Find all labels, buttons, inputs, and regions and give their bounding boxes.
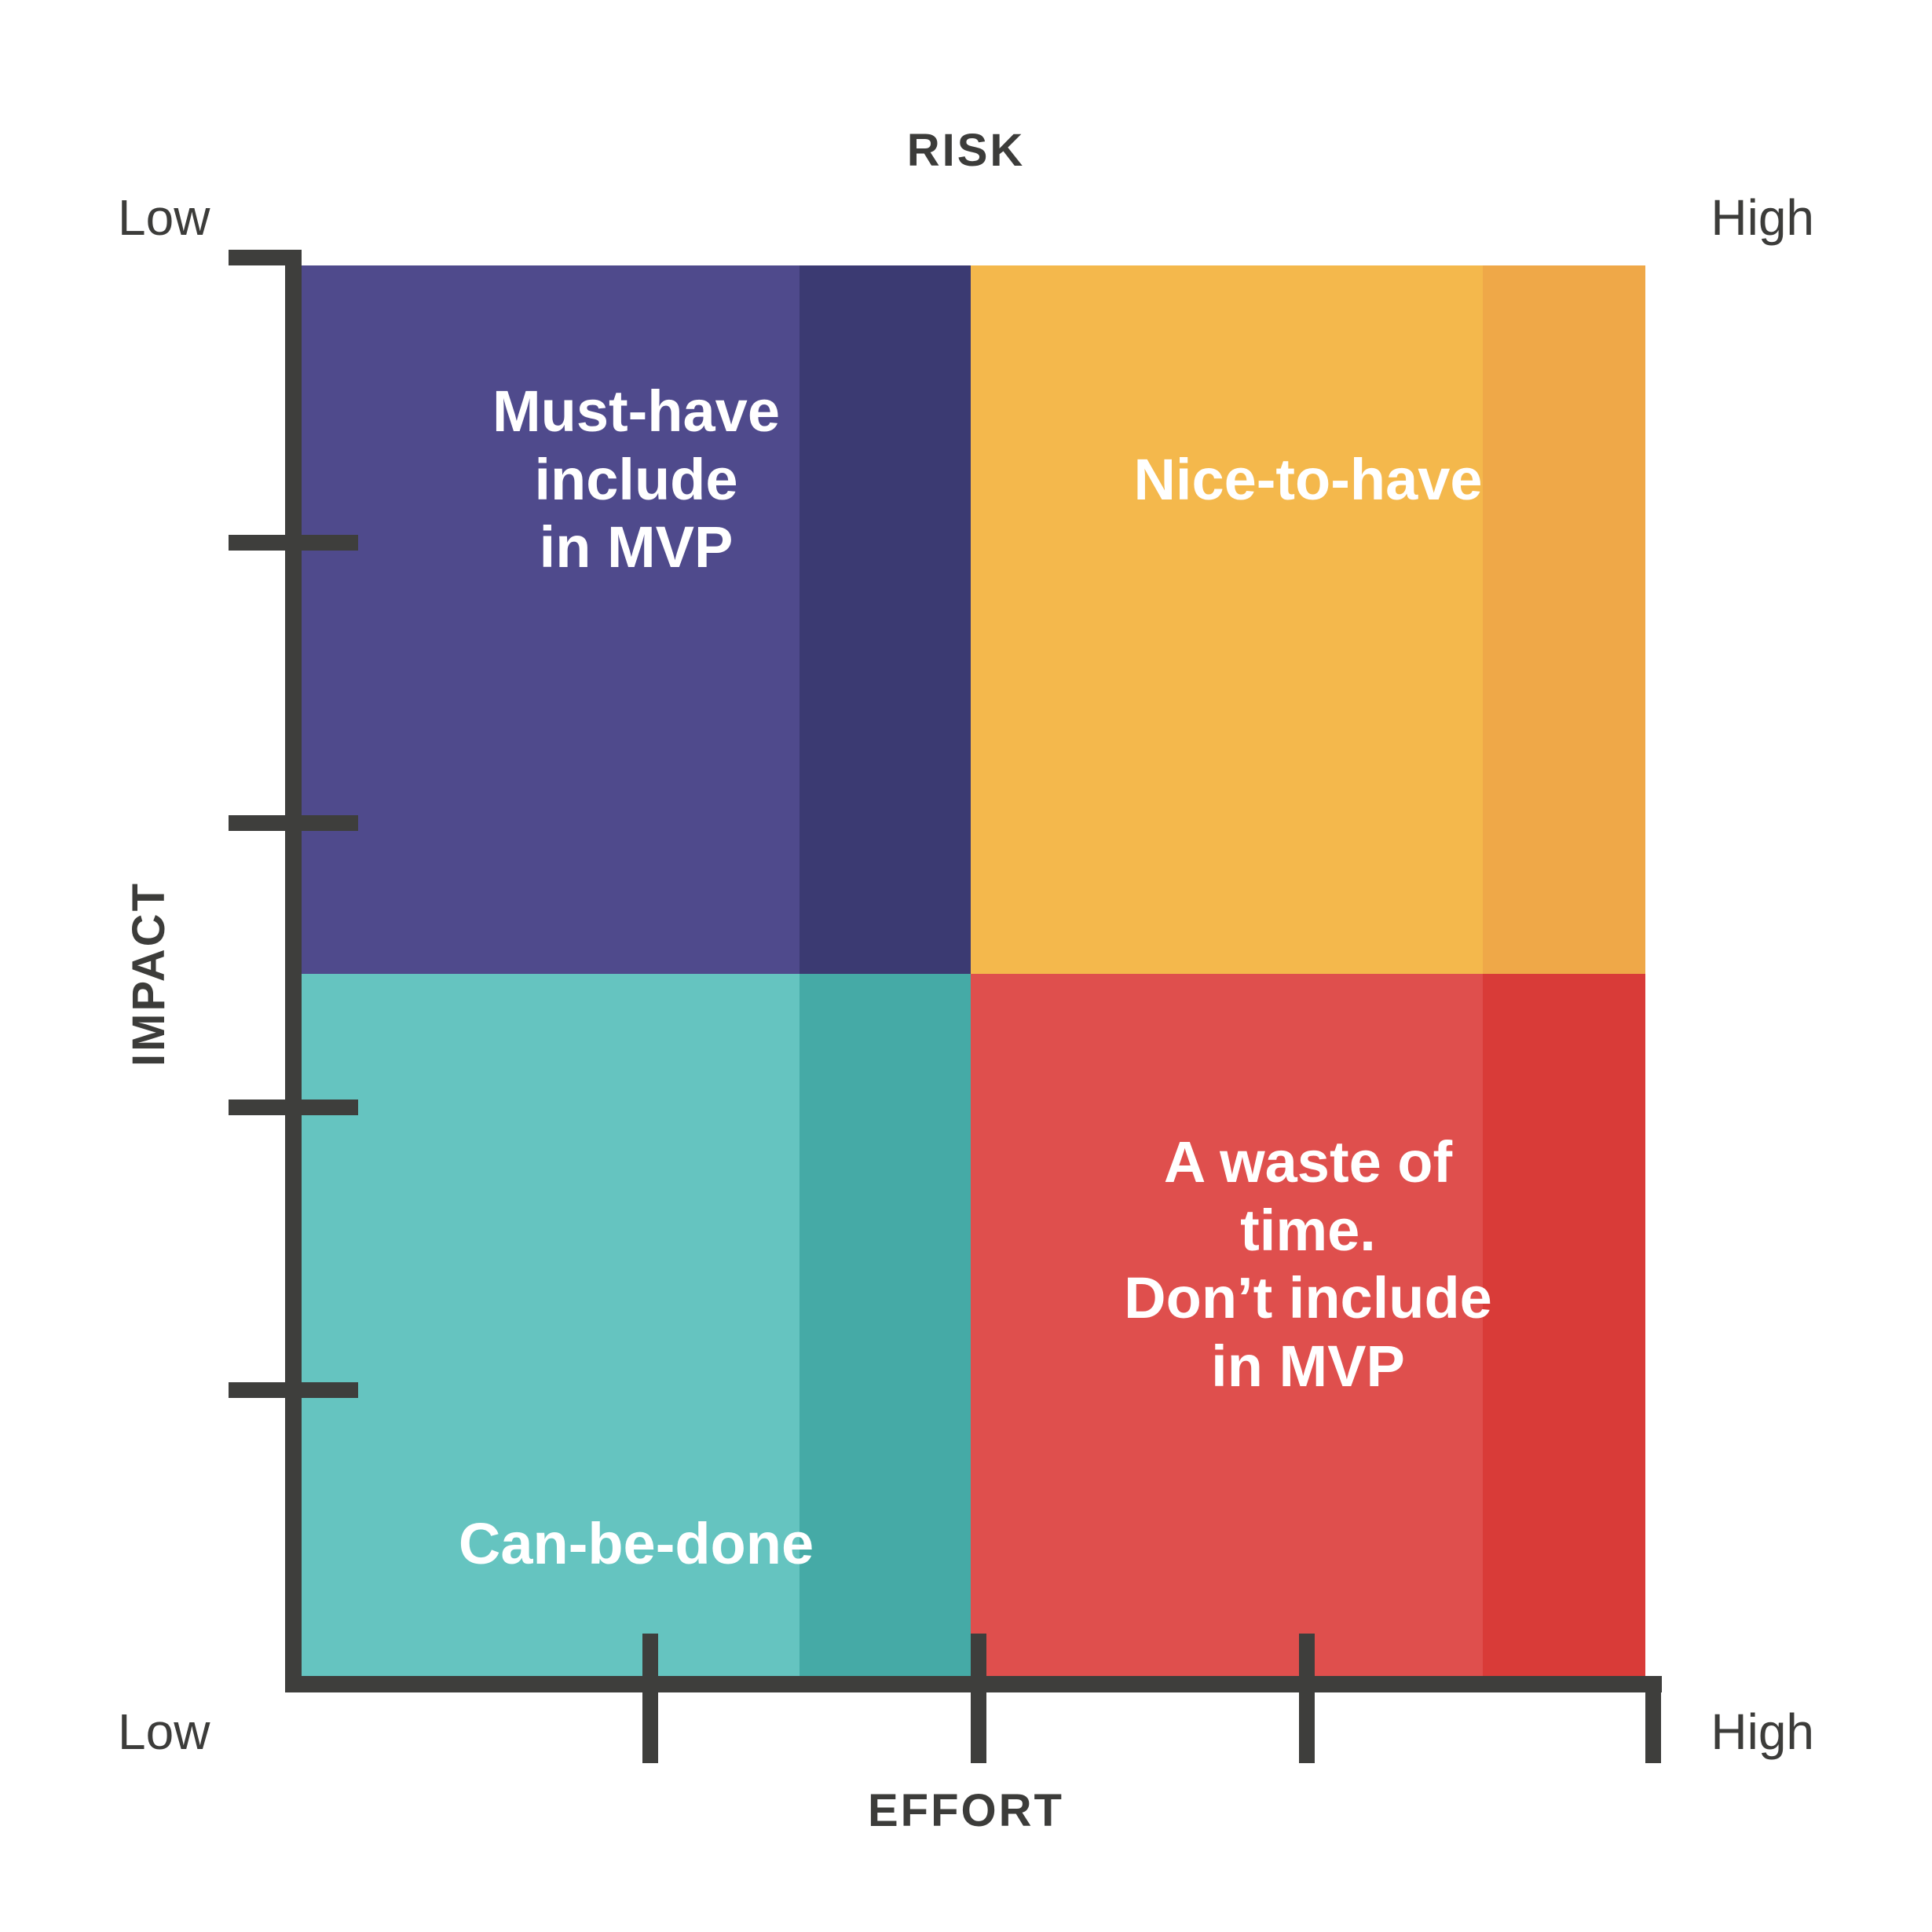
y-axis-line: [285, 250, 302, 1692]
risk-axis-title: RISK: [0, 124, 1932, 177]
x-axis-tick: [1645, 1676, 1661, 1763]
y-axis-tick: [229, 1382, 358, 1398]
plot-area: Must-have include in MVP Nice-to-have Ca…: [302, 265, 1645, 1676]
y-axis-tick: [229, 250, 302, 265]
quadrant-shade-band: [1483, 265, 1645, 974]
quadrant-can-be-done[interactable]: Can-be-done: [302, 974, 971, 1676]
risk-low-label: Low: [118, 188, 210, 247]
effort-high-label: High: [1711, 1703, 1814, 1761]
x-axis-tick: [642, 1634, 658, 1763]
quadrant-label-waste-of-time: A waste of time. Don’t include in MVP: [971, 1129, 1645, 1400]
effort-axis-title: EFFORT: [0, 1784, 1932, 1837]
y-axis-tick: [229, 535, 358, 551]
y-axis-tick: [229, 815, 358, 831]
quadrant-nice-to-have[interactable]: Nice-to-have: [971, 265, 1645, 974]
prioritization-matrix-chart: RISK Low High Low High IMPACT Must-have …: [0, 0, 1932, 1932]
effort-low-label: Low: [118, 1703, 210, 1761]
risk-high-label: High: [1711, 188, 1814, 247]
quadrant-shade-band: [800, 265, 971, 974]
y-axis-tick: [229, 1100, 358, 1115]
quadrant-label-nice-to-have: Nice-to-have: [971, 446, 1645, 514]
quadrant-label-must-have: Must-have include in MVP: [302, 378, 971, 582]
quadrant-must-have[interactable]: Must-have include in MVP: [302, 265, 971, 974]
x-axis-tick: [971, 1634, 986, 1763]
quadrant-waste-of-time[interactable]: A waste of time. Don’t include in MVP: [971, 974, 1645, 1676]
quadrant-label-can-be-done: Can-be-done: [302, 1510, 971, 1579]
x-axis-tick: [1299, 1634, 1315, 1763]
impact-axis-title-text: IMPACT: [123, 817, 175, 1131]
